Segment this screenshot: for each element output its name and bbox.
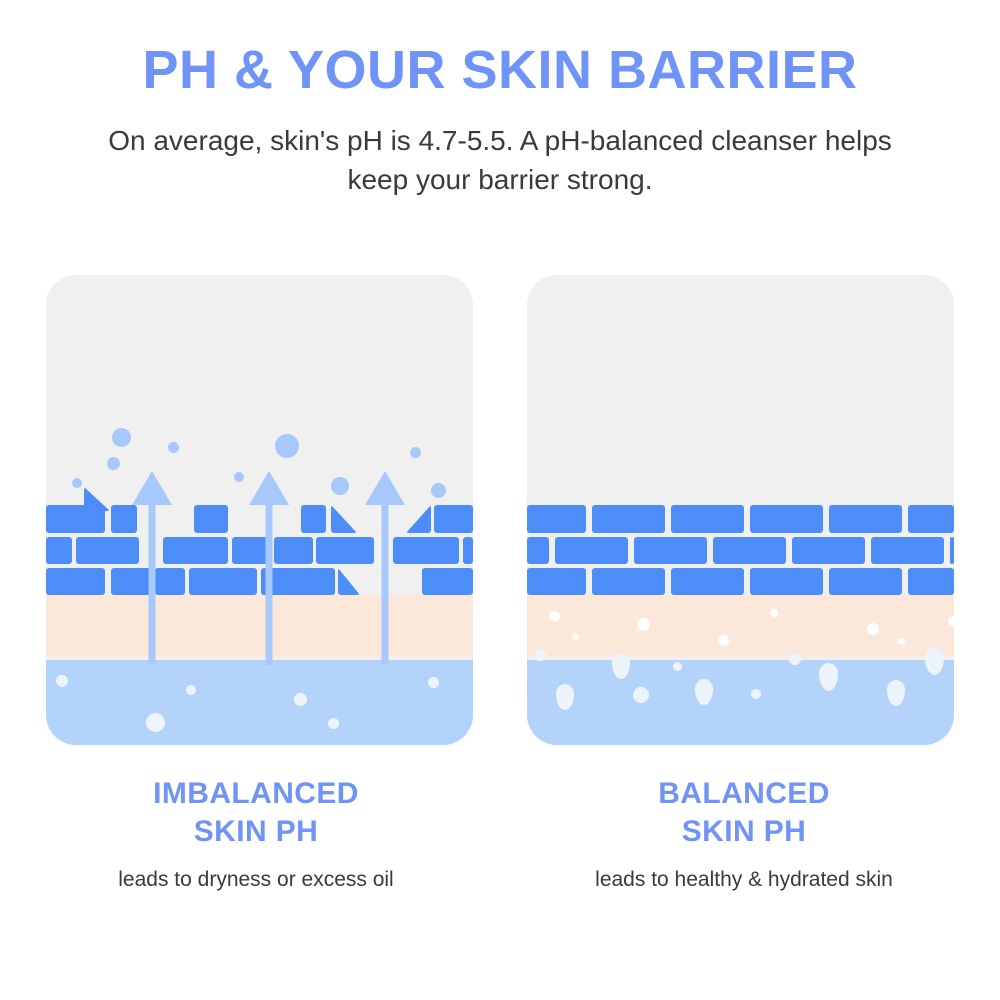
- panel-imbalanced-skin: [46, 275, 473, 745]
- caption-heading-balanced: BALANCED SKIN PH: [524, 775, 964, 852]
- water-bubble: [428, 677, 439, 688]
- water-bubble: [328, 718, 339, 729]
- caption-balanced: BALANCED SKIN PH leads to healthy & hydr…: [524, 775, 964, 892]
- header: PH & YOUR SKIN BARRIER On average, skin'…: [0, 0, 1000, 200]
- water-droplet: [819, 663, 838, 691]
- panels-row: [0, 275, 1000, 745]
- caption-sub-imbalanced: leads to dryness or excess oil: [36, 852, 476, 892]
- caption-imbalanced: IMBALANCED SKIN PH leads to dryness or e…: [36, 775, 476, 892]
- water-bubble: [186, 685, 196, 695]
- page-subtitle: On average, skin's pH is 4.7-5.5. A pH-b…: [90, 99, 910, 201]
- water-bubble: [146, 713, 165, 732]
- panel-balanced-skin: [527, 275, 954, 745]
- caption-heading-line1: IMBALANCED: [36, 775, 476, 813]
- caption-sub-balanced: leads to healthy & hydrated skin: [524, 852, 964, 892]
- water-bubble: [751, 689, 761, 699]
- dermis-bubbles-left: [46, 275, 473, 745]
- caption-heading-imbalanced: IMBALANCED SKIN PH: [36, 775, 476, 852]
- caption-heading-line1: BALANCED: [524, 775, 964, 813]
- water-bubble: [294, 693, 307, 706]
- caption-heading-line2: SKIN PH: [36, 813, 476, 851]
- captions-row: IMBALANCED SKIN PH leads to dryness or e…: [0, 775, 1000, 905]
- water-droplet: [925, 647, 944, 675]
- water-droplet: [556, 684, 574, 710]
- infographic-page: PH & YOUR SKIN BARRIER On average, skin'…: [0, 0, 1000, 1000]
- water-droplet: [612, 653, 630, 679]
- water-bubble: [673, 662, 682, 671]
- hydration-droplets: [527, 275, 954, 745]
- water-bubble: [789, 653, 801, 665]
- page-title: PH & YOUR SKIN BARRIER: [0, 0, 1000, 99]
- water-droplet: [887, 680, 905, 706]
- water-bubble: [633, 687, 649, 703]
- water-bubble: [535, 650, 546, 661]
- water-droplet: [695, 679, 713, 705]
- caption-heading-line2: SKIN PH: [524, 813, 964, 851]
- water-bubble: [56, 675, 68, 687]
